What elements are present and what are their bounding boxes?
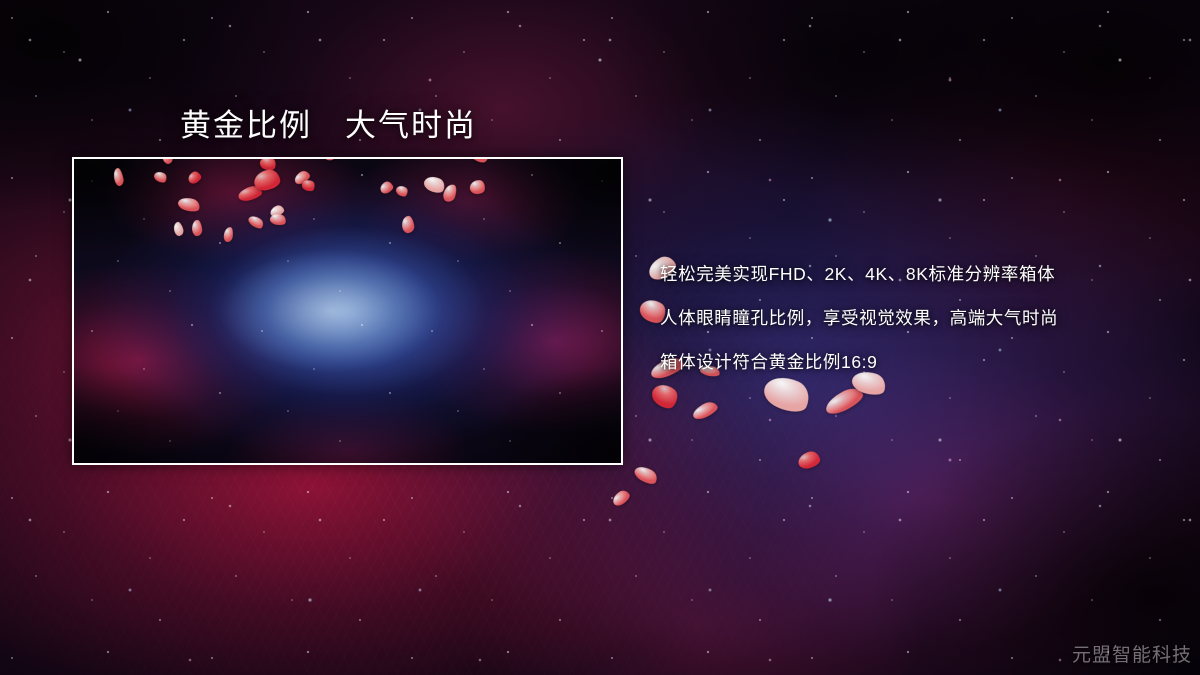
- watermark-text: 元盟智能科技: [1072, 640, 1192, 667]
- body-copy-line: 轻松完美实现FHD、2K、4K、8K标准分辨率箱体: [660, 252, 1160, 296]
- body-copy-block: 轻松完美实现FHD、2K、4K、8K标准分辨率箱体 人体眼睛瞳孔比例，享受视觉效…: [660, 252, 1160, 384]
- nebula-petals-image-panel: [72, 157, 623, 465]
- body-copy-line: 箱体设计符合黄金比例16:9: [660, 340, 1160, 384]
- slide-canvas: 黄金比例 大气时尚 轻松完美实现FHD、2K、4K、8K标准分辨率箱体 人体眼睛…: [0, 0, 1200, 675]
- slide-title: 黄金比例 大气时尚: [180, 100, 477, 145]
- body-copy-line: 人体眼睛瞳孔比例，享受视觉效果，高端大气时尚: [660, 296, 1160, 340]
- panel-corner-shading: [74, 159, 621, 463]
